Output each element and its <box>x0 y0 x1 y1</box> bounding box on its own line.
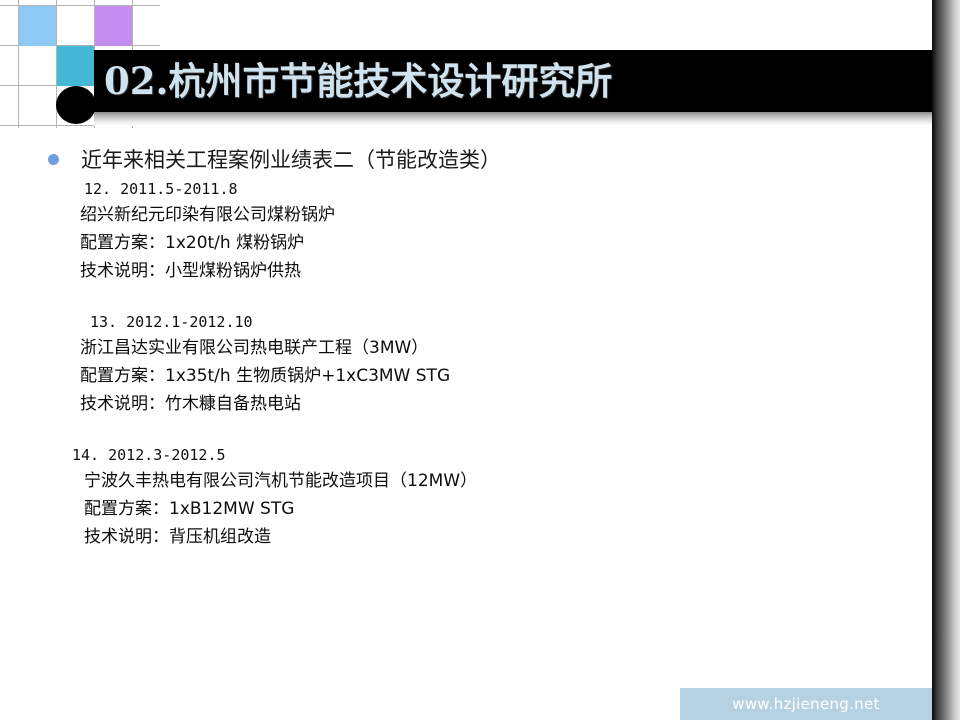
entry-config: 配置方案：1xB12MW STG <box>0 495 932 523</box>
slide-edge-shadow <box>932 0 960 720</box>
project-entry: 12. 2011.5-2011.8 绍兴新纪元印染有限公司煤粉锅炉 配置方案：1… <box>0 180 932 285</box>
project-entry-list: 12. 2011.5-2011.8 绍兴新纪元印染有限公司煤粉锅炉 配置方案：1… <box>0 180 932 579</box>
entry-project: 浙江昌达实业有限公司热电联产工程（3MW） <box>0 334 932 362</box>
light-blue-square <box>19 6 56 46</box>
subtitle-row: 近年来相关工程案例业绩表二（节能改造类） <box>48 144 501 174</box>
slide-content: 近年来相关工程案例业绩表二（节能改造类） 12. 2011.5-2011.8 绍… <box>0 138 932 678</box>
entry-config: 配置方案：1x35t/h 生物质锅炉+1xC3MW STG <box>0 362 932 390</box>
project-entry: 14. 2012.3-2012.5 宁波久丰热电有限公司汽机节能改造项目（12M… <box>0 446 932 551</box>
entry-date: 13. 2012.1-2012.10 <box>0 313 932 331</box>
entry-date: 12. 2011.5-2011.8 <box>0 180 932 198</box>
purple-square <box>95 6 132 46</box>
teal-square <box>57 46 94 86</box>
title-bar-shadow <box>94 112 932 126</box>
black-circle <box>56 86 96 124</box>
footer-website[interactable]: www.hzjieneng.net <box>680 688 932 720</box>
project-entry: 13. 2012.1-2012.10 浙江昌达实业有限公司热电联产工程（3MW）… <box>0 313 932 418</box>
entry-config: 配置方案：1x20t/h 煤粉锅炉 <box>0 229 932 257</box>
page-title: 02.杭州市节能技术设计研究所 <box>104 52 612 110</box>
bullet-dot-icon <box>48 154 59 165</box>
entry-description: 技术说明：竹木糠自备热电站 <box>0 390 932 418</box>
entry-description: 技术说明：背压机组改造 <box>0 523 932 551</box>
footer-bar: www.hzjieneng.net <box>680 688 932 720</box>
entry-project: 绍兴新纪元印染有限公司煤粉锅炉 <box>0 201 932 229</box>
entry-date: 14. 2012.3-2012.5 <box>0 446 932 464</box>
presentation-slide: 02.杭州市节能技术设计研究所 近年来相关工程案例业绩表二（节能改造类） 12.… <box>0 0 960 720</box>
entry-project: 宁波久丰热电有限公司汽机节能改造项目（12MW） <box>0 467 932 495</box>
entry-description: 技术说明：小型煤粉锅炉供热 <box>0 257 932 285</box>
slide-subtitle: 近年来相关工程案例业绩表二（节能改造类） <box>81 144 501 174</box>
